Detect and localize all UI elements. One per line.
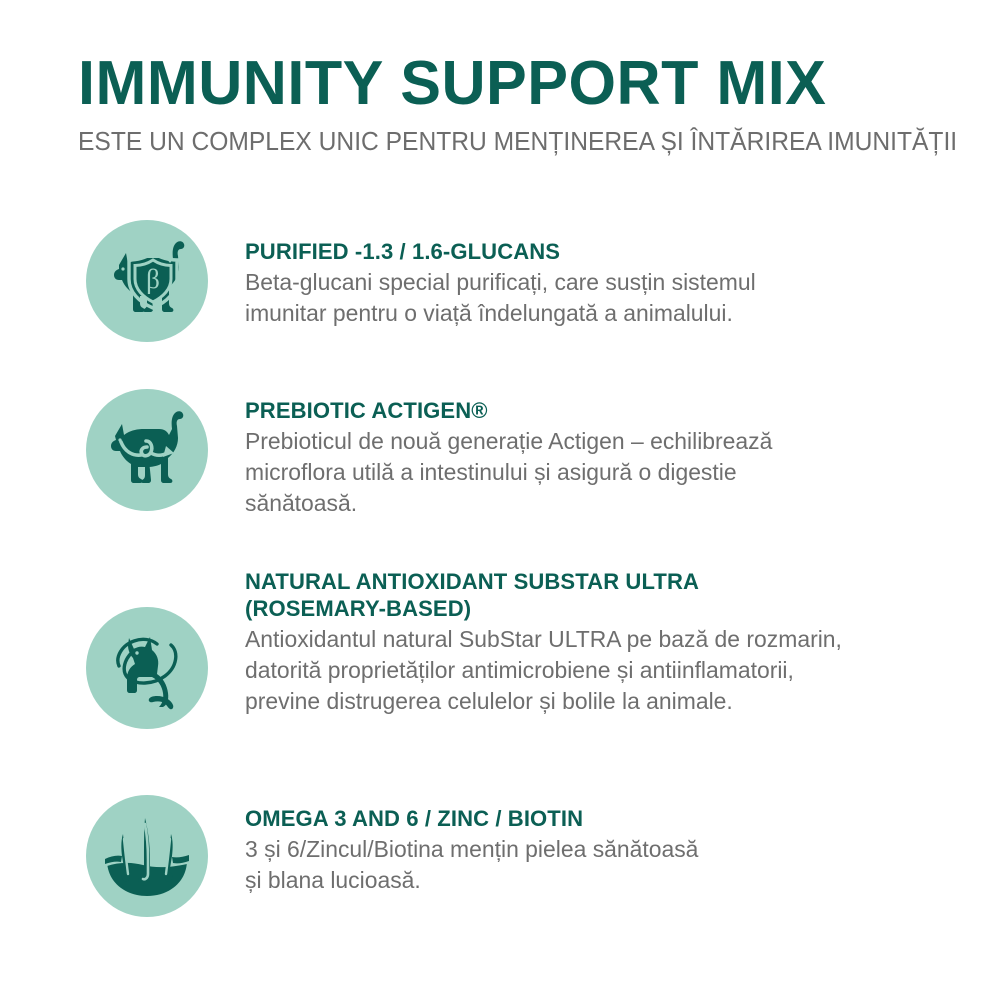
cat-shield-beta-icon: β bbox=[95, 229, 199, 333]
feature-body: Beta-glucani special purificați, care su… bbox=[245, 265, 967, 329]
cat-orbit-shield-icon bbox=[95, 616, 199, 720]
feature-heading-line: NATURAL ANTIOXIDANT SUBSTAR ULTRA bbox=[245, 568, 970, 595]
feature-body-line: sănătoasă. bbox=[245, 488, 967, 519]
feature-heading-line: (ROSEMARY-BASED) bbox=[245, 595, 970, 622]
feature-heading: PURIFIED -1.3 / 1.6-GLUCANS bbox=[245, 238, 970, 265]
feature-heading-line: OMEGA 3 AND 6 / ZINC / BIOTIN bbox=[245, 805, 970, 832]
feature-icon-badge bbox=[86, 607, 208, 729]
feature-heading-line: PURIFIED -1.3 / 1.6-GLUCANS bbox=[245, 238, 970, 265]
feature-text-block: OMEGA 3 AND 6 / ZINC / BIOTIN 3 și 6/Zin… bbox=[245, 805, 985, 896]
feature-icon-badge bbox=[86, 795, 208, 917]
feature-body-line: Prebioticul de nouă generație Actigen – … bbox=[245, 426, 967, 457]
header: IMMUNITY SUPPORT MIX ESTE UN COMPLEX UNI… bbox=[78, 52, 938, 157]
hair-follicle-skin-icon bbox=[95, 804, 199, 908]
feature-heading: OMEGA 3 AND 6 / ZINC / BIOTIN bbox=[245, 805, 970, 832]
feature-body-line: Antioxidantul natural SubStar ULTRA pe b… bbox=[245, 624, 967, 655]
svg-text:β: β bbox=[146, 264, 160, 294]
feature-text-block: NATURAL ANTIOXIDANT SUBSTAR ULTRA (ROSEM… bbox=[245, 568, 985, 717]
feature-body-line: și blana lucioasă. bbox=[245, 865, 967, 896]
feature-body: Antioxidantul natural SubStar ULTRA pe b… bbox=[245, 622, 967, 717]
feature-body: Prebioticul de nouă generație Actigen – … bbox=[245, 424, 967, 519]
cat-digestive-arrow-icon bbox=[95, 398, 199, 502]
feature-text-block: PURIFIED -1.3 / 1.6-GLUCANS Beta-glucani… bbox=[245, 238, 985, 329]
feature-icon-badge bbox=[86, 389, 208, 511]
feature-body-line: 3 și 6/Zincul/Biotina mențin pielea sănă… bbox=[245, 834, 967, 865]
feature-body-line: imunitar pentru o viață îndelungată a an… bbox=[245, 298, 967, 329]
page-title: IMMUNITY SUPPORT MIX bbox=[78, 52, 925, 116]
feature-icon-badge: β bbox=[86, 220, 208, 342]
feature-body: 3 și 6/Zincul/Biotina mențin pielea sănă… bbox=[245, 832, 967, 896]
feature-heading-line: PREBIOTIC ACTIGEN® bbox=[245, 397, 970, 424]
feature-body-line: previne distrugerea celulelor și bolile … bbox=[245, 686, 967, 717]
feature-heading: PREBIOTIC ACTIGEN® bbox=[245, 397, 970, 424]
page-subtitle: ESTE UN COMPLEX UNIC PENTRU MENȚINEREA Ș… bbox=[78, 116, 908, 157]
feature-body-line: Beta-glucani special purificați, care su… bbox=[245, 267, 967, 298]
feature-text-block: PREBIOTIC ACTIGEN® Prebioticul de nouă g… bbox=[245, 397, 985, 519]
feature-heading: NATURAL ANTIOXIDANT SUBSTAR ULTRA (ROSEM… bbox=[245, 568, 970, 622]
immunity-support-mix-infographic: IMMUNITY SUPPORT MIX ESTE UN COMPLEX UNI… bbox=[0, 0, 1000, 1000]
feature-body-line: microflora utilă a intestinului și asigu… bbox=[245, 457, 967, 488]
feature-body-line: datorită proprietăților antimicrobiene ș… bbox=[245, 655, 967, 686]
